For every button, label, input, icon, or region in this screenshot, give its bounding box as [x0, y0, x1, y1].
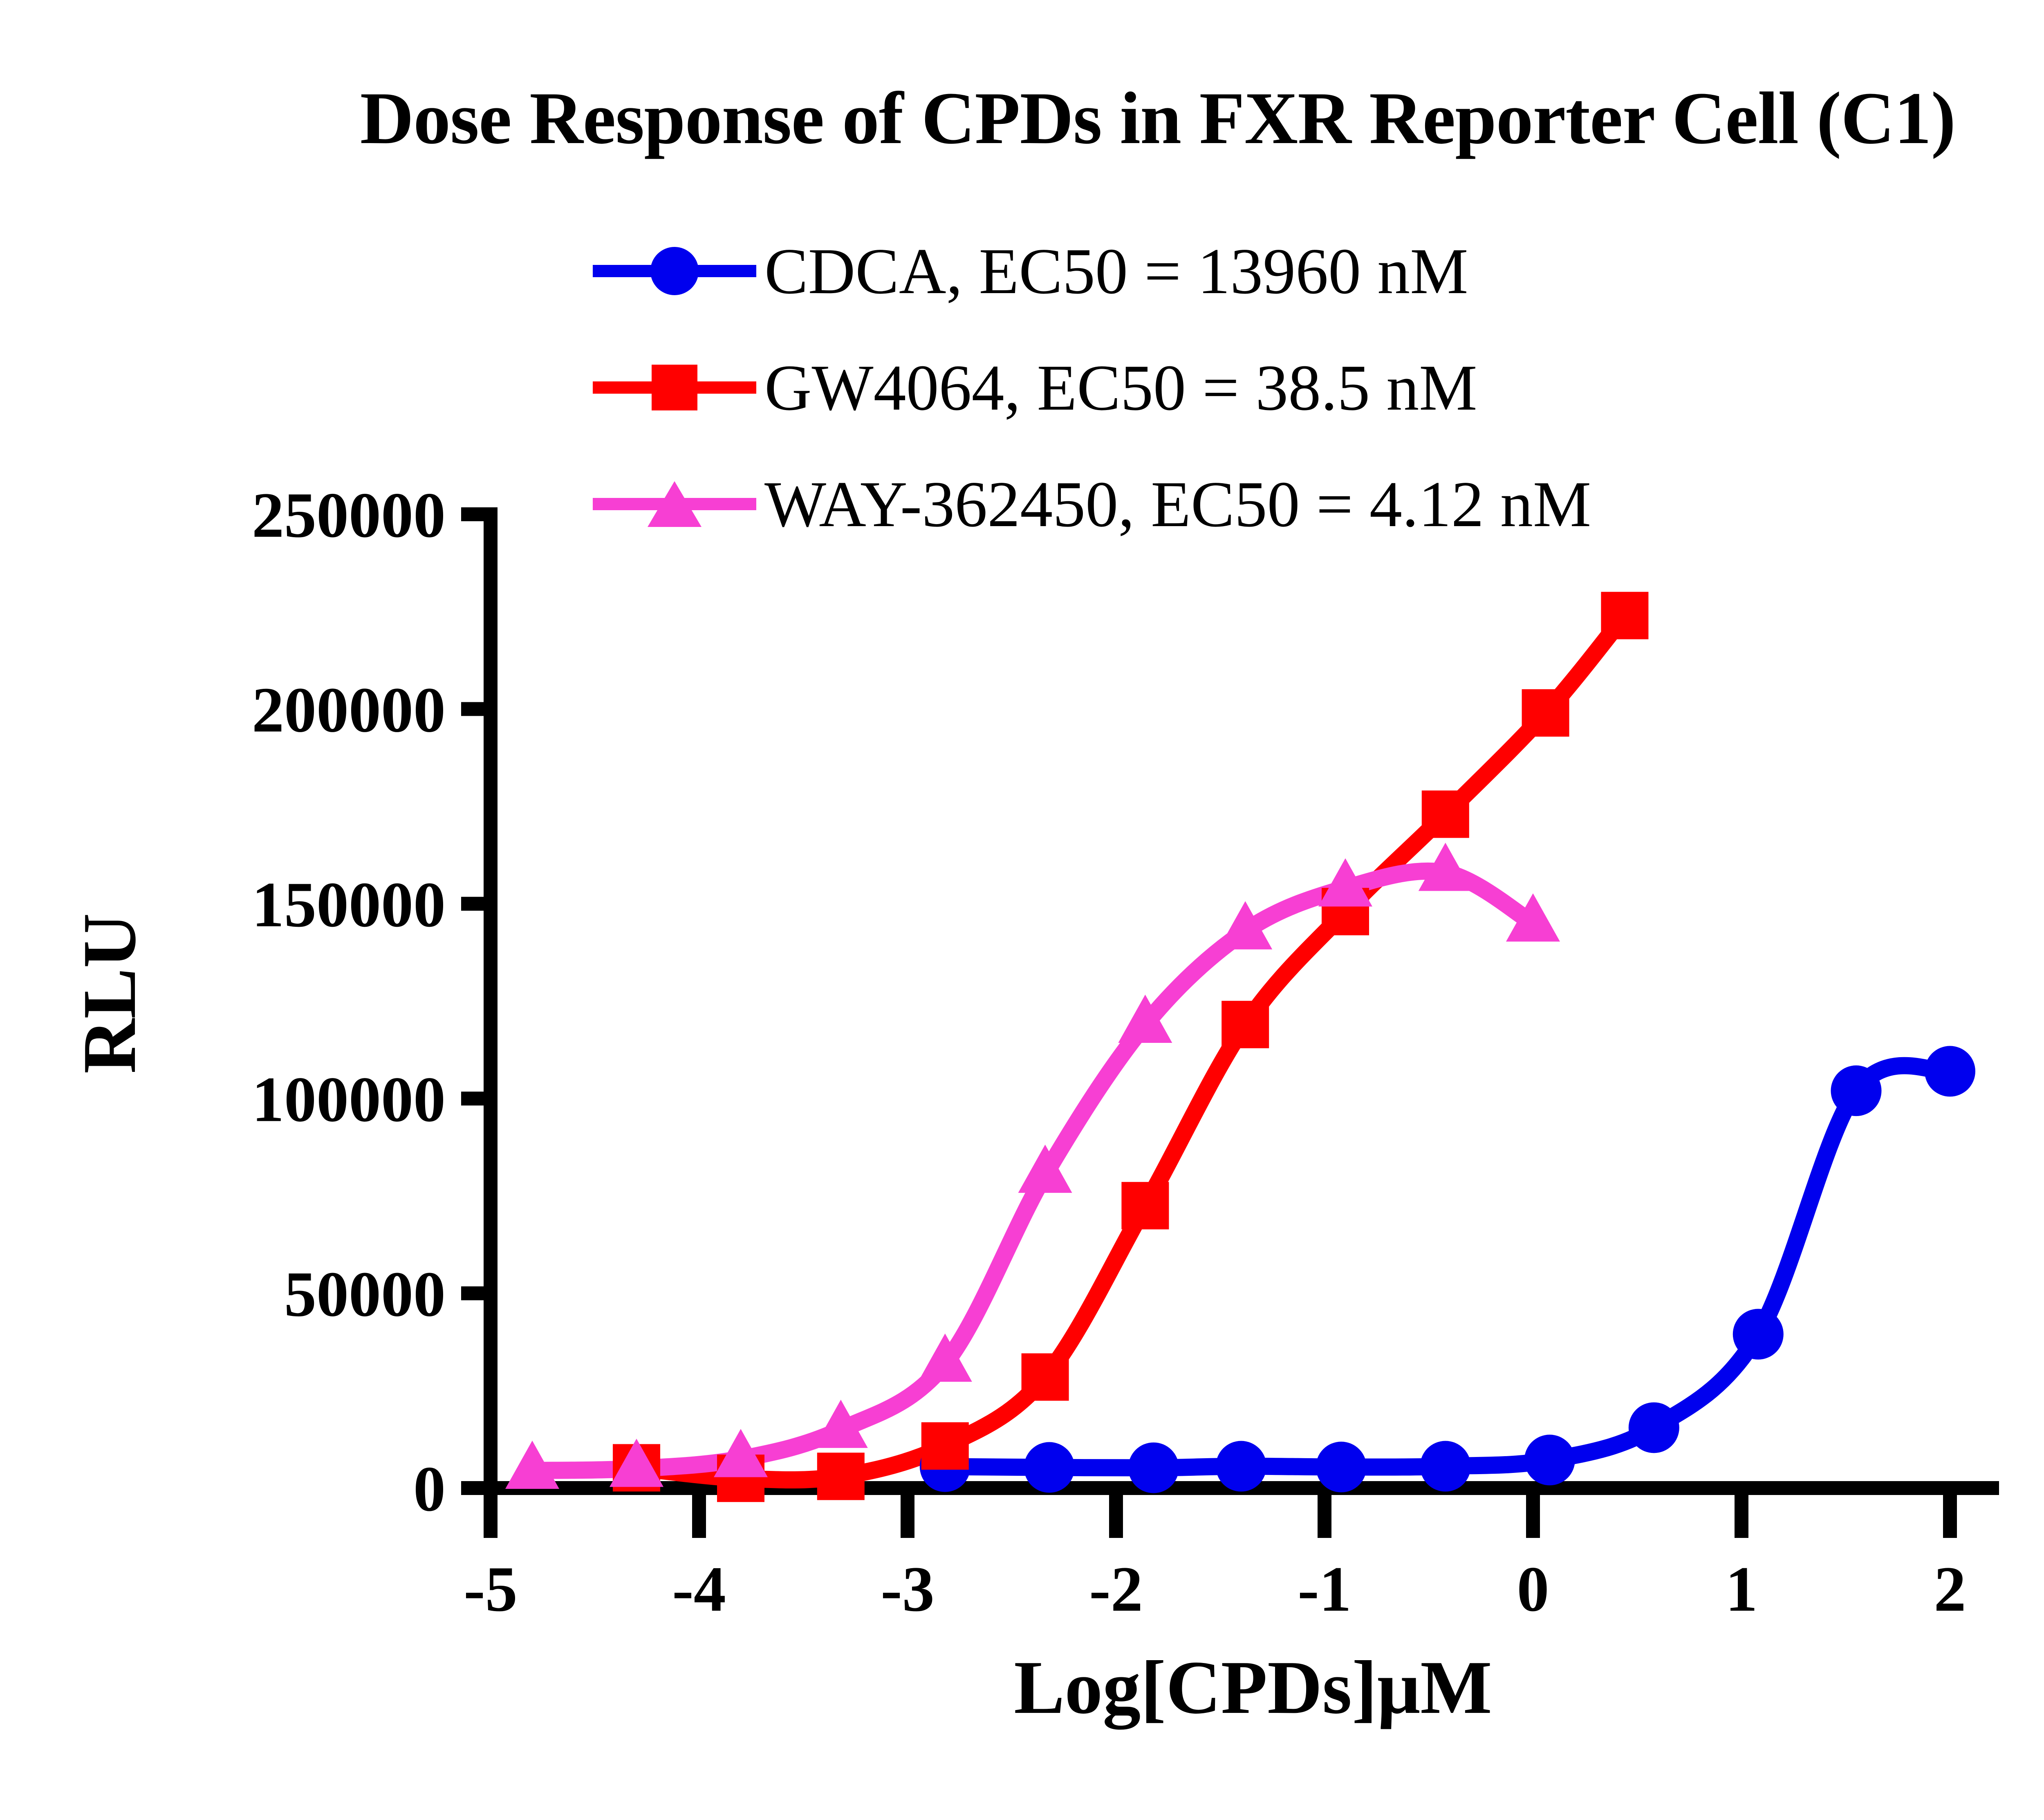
x-tick-label: -3	[881, 1553, 935, 1625]
x-tick-label: -4	[672, 1553, 726, 1625]
data-point-square	[1601, 592, 1648, 639]
data-point-square	[817, 1452, 865, 1500]
x-tick-label: -5	[464, 1553, 518, 1625]
y-axis-title: RLU	[67, 913, 152, 1074]
x-tick-label: -1	[1298, 1553, 1351, 1625]
y-tick-label: 150000	[252, 869, 446, 941]
y-tick-label: 200000	[252, 674, 446, 746]
data-point-square	[1022, 1353, 1069, 1401]
y-tick-label: 50000	[284, 1259, 446, 1330]
data-point-circle	[1316, 1442, 1367, 1493]
x-tick-label: 0	[1517, 1553, 1549, 1625]
data-point-circle	[1831, 1065, 1882, 1116]
data-point-square	[1422, 791, 1469, 838]
data-point-circle	[1629, 1402, 1679, 1453]
series-line	[945, 1066, 1950, 1468]
data-point-circle	[1524, 1434, 1575, 1485]
chart-figure: Dose Response of CPDs in FXR Reporter Ce…	[0, 0, 2044, 1820]
data-point-circle	[1216, 1441, 1266, 1492]
data-point-square	[1121, 1182, 1169, 1229]
x-tick-label: 1	[1726, 1553, 1758, 1625]
x-tick-label: 2	[1934, 1553, 1966, 1625]
y-tick-label: 100000	[252, 1064, 446, 1135]
y-tick-label: 250000	[252, 480, 446, 551]
plot-area: 050000100000150000200000250000-5-4-3-2-1…	[0, 0, 2044, 1820]
series-cdca	[945, 1066, 1950, 1468]
data-point-circle	[1925, 1046, 1975, 1097]
axis-labels-group: 050000100000150000200000250000-5-4-3-2-1…	[67, 480, 1966, 1730]
data-point-square	[921, 1422, 969, 1470]
series-group	[505, 592, 1975, 1502]
data-point-square	[1221, 1001, 1269, 1048]
data-point-circle	[1420, 1441, 1471, 1492]
data-point-square	[1522, 689, 1569, 737]
data-point-circle	[1733, 1309, 1784, 1360]
data-point-circle	[1128, 1442, 1179, 1493]
y-tick-label: 0	[413, 1453, 446, 1525]
data-point-circle	[1024, 1442, 1075, 1493]
x-axis-title: Log[CPDs]μM	[1014, 1645, 1492, 1730]
x-tick-label: -2	[1089, 1553, 1143, 1625]
